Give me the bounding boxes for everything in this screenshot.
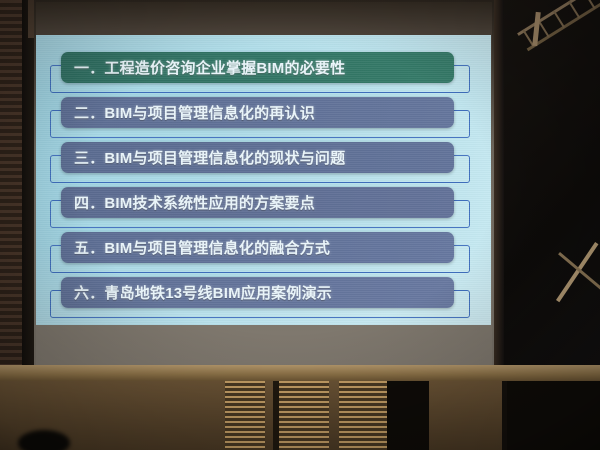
agenda-item-bar[interactable]: 六．青岛地铁13号线BIM应用案例演示: [61, 277, 454, 308]
agenda-item-3[interactable]: 三．BIM与项目管理信息化的现状与问题: [50, 142, 480, 186]
cabinet-row: [0, 381, 600, 450]
agenda-item-1[interactable]: 一．工程造价咨询企业掌握BIM的必要性: [50, 52, 480, 96]
agenda-item-4[interactable]: 四．BIM技术系统性应用的方案要点: [50, 187, 480, 231]
agenda-item-5[interactable]: 五．BIM与项目管理信息化的融合方式: [50, 232, 480, 276]
projected-slide: 一．工程造价咨询企业掌握BIM的必要性二．BIM与项目管理信息化的再认识三．BI…: [36, 35, 491, 325]
agenda-item-label: 三．BIM与项目管理信息化的现状与问题: [61, 147, 345, 168]
agenda-item-bar[interactable]: 二．BIM与项目管理信息化的再认识: [61, 97, 454, 128]
agenda-item-bar[interactable]: 四．BIM技术系统性应用的方案要点: [61, 187, 454, 218]
agenda-list: 一．工程造价咨询企业掌握BIM的必要性二．BIM与项目管理信息化的再认识三．BI…: [36, 35, 491, 325]
agenda-item-label: 二．BIM与项目管理信息化的再认识: [61, 102, 315, 123]
agenda-item-label: 六．青岛地铁13号线BIM应用案例演示: [61, 282, 332, 303]
agenda-item-2[interactable]: 二．BIM与项目管理信息化的再认识: [50, 97, 480, 141]
agenda-item-label: 一．工程造价咨询企业掌握BIM的必要性: [61, 57, 345, 78]
foreground-dark-object: [18, 430, 70, 450]
cabinet-post: [502, 381, 507, 450]
agenda-item-6[interactable]: 六．青岛地铁13号线BIM应用案例演示: [50, 277, 480, 321]
agenda-item-bar[interactable]: 一．工程造价咨询企业掌握BIM的必要性: [61, 52, 454, 83]
photo-scene: 一．工程造价咨询企业掌握BIM的必要性二．BIM与项目管理信息化的再认识三．BI…: [0, 0, 600, 450]
agenda-item-label: 五．BIM与项目管理信息化的融合方式: [61, 237, 330, 258]
wooden-rail: [0, 365, 600, 381]
agenda-item-label: 四．BIM技术系统性应用的方案要点: [61, 192, 315, 213]
agenda-item-bar[interactable]: 三．BIM与项目管理信息化的现状与问题: [61, 142, 454, 173]
agenda-item-bar[interactable]: 五．BIM与项目管理信息化的融合方式: [61, 232, 454, 263]
